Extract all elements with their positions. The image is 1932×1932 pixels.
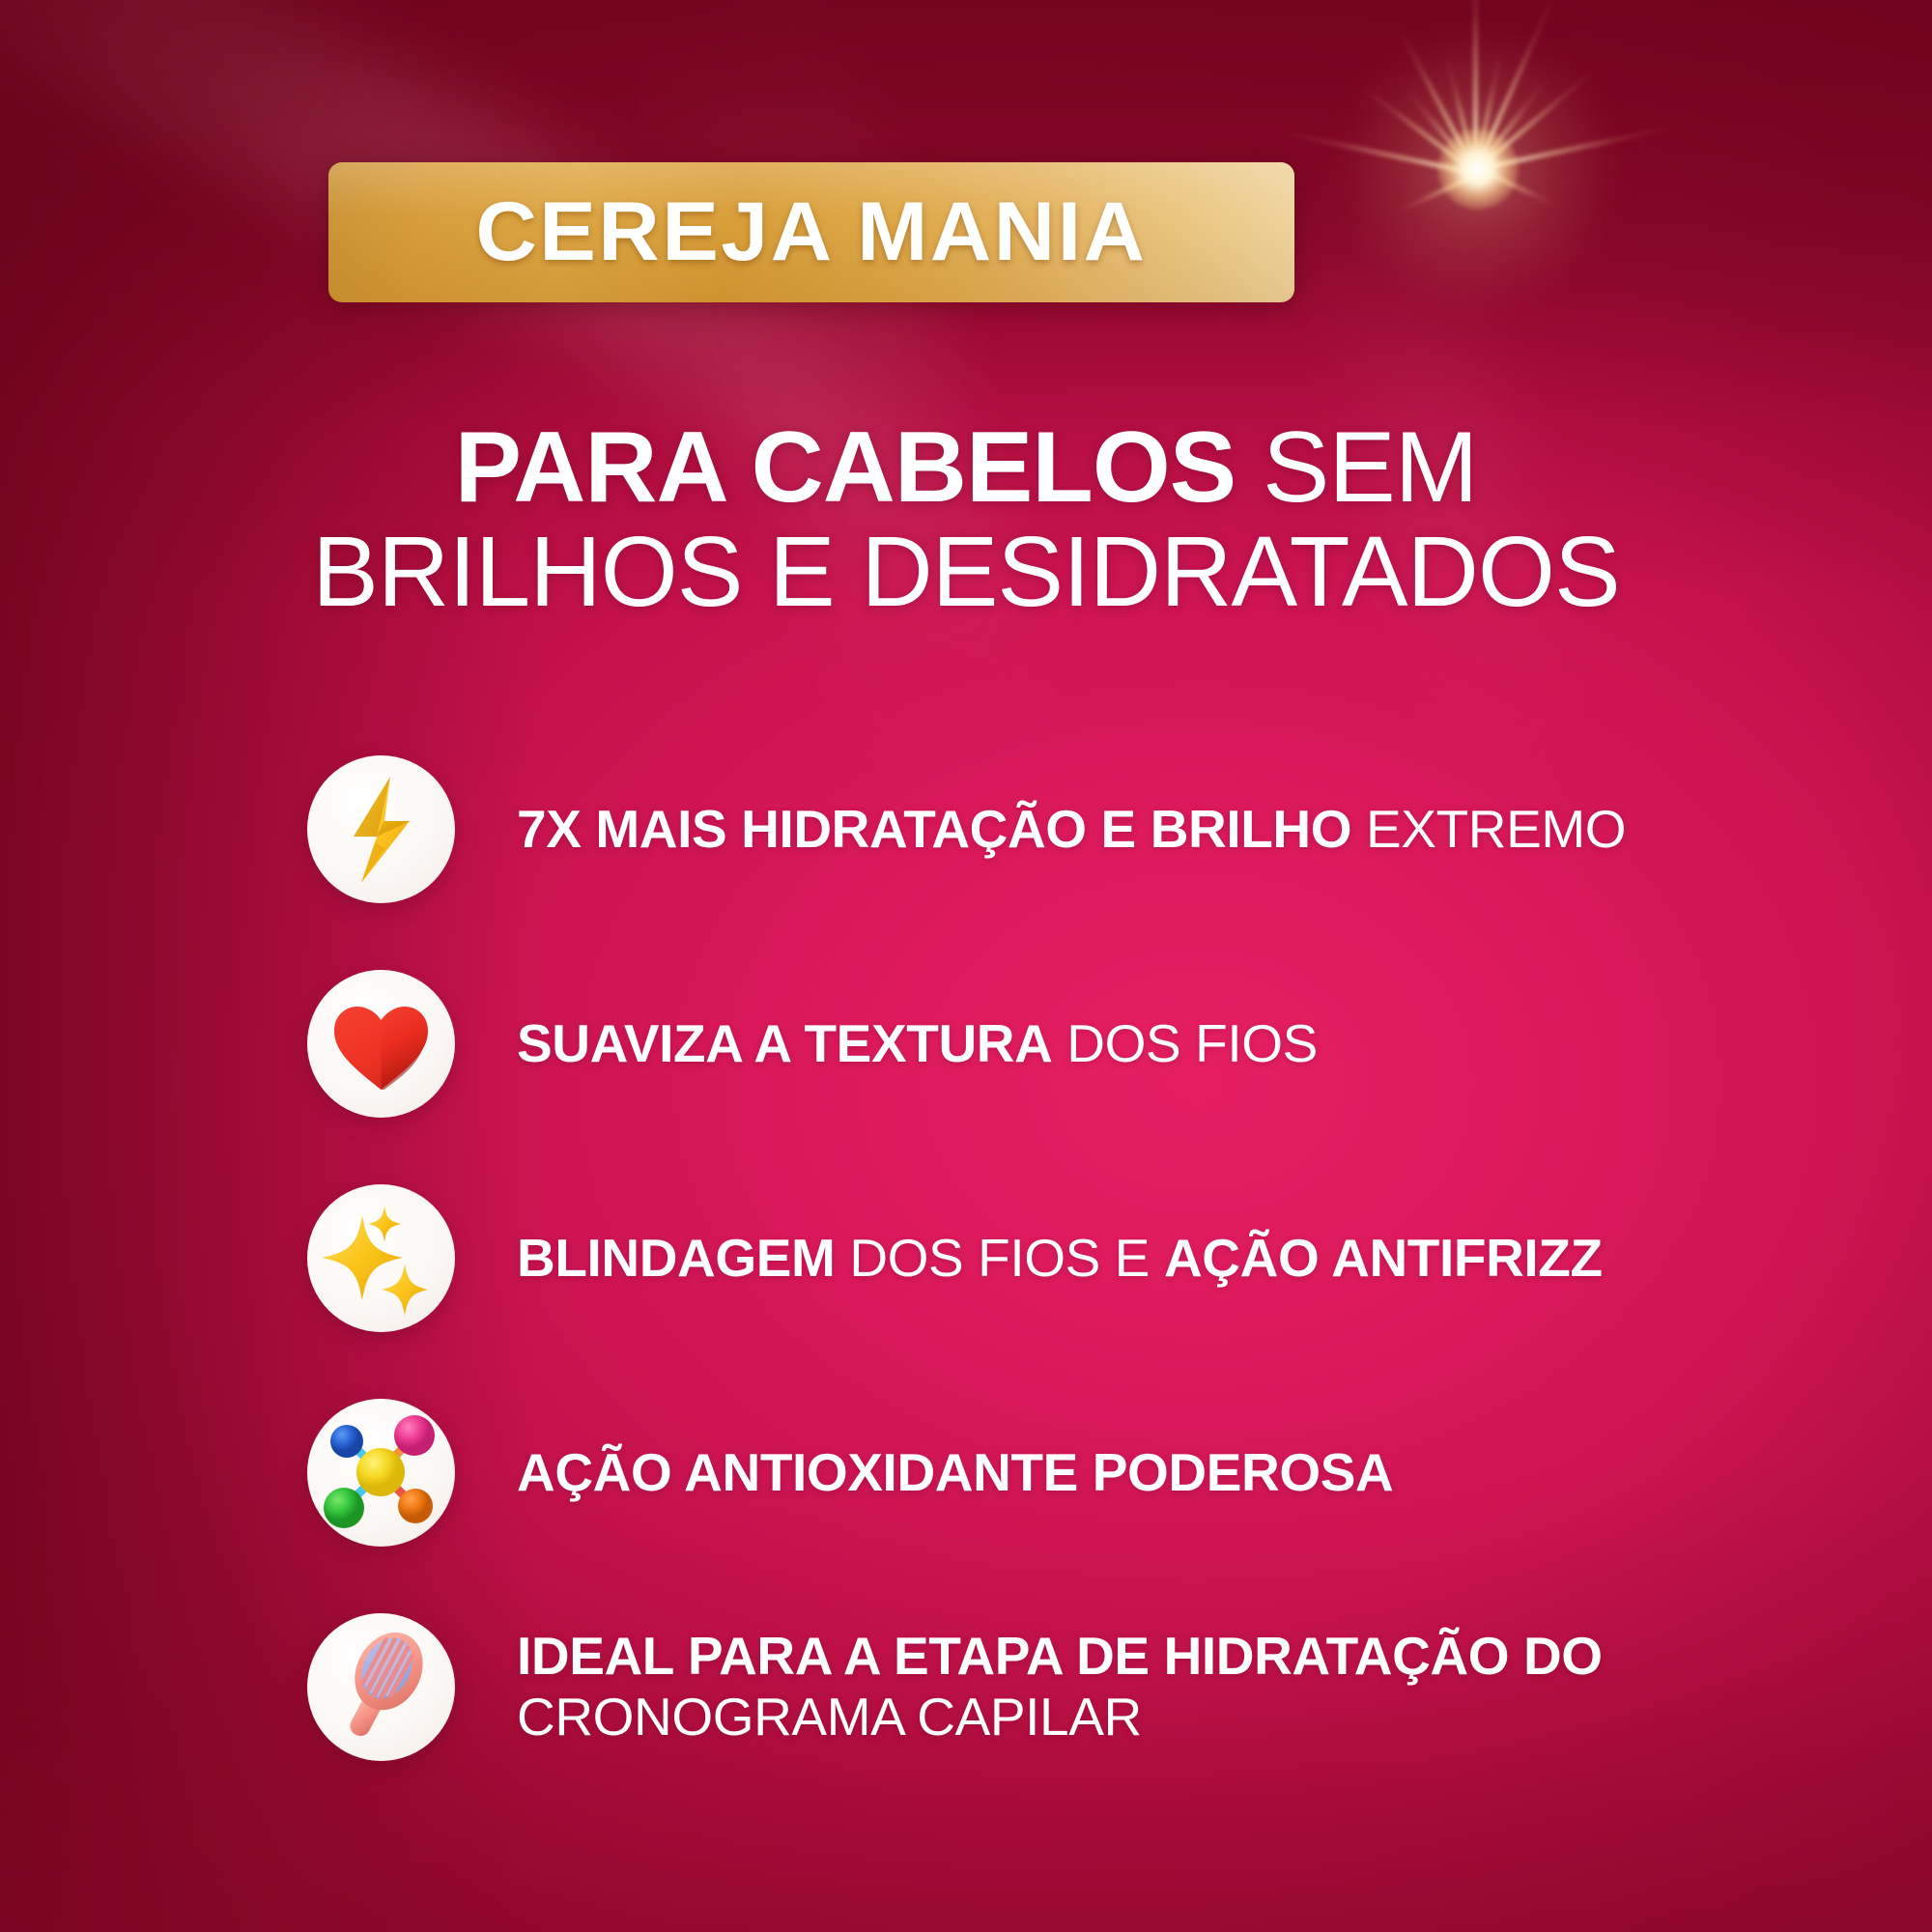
headline-light: SEM	[1236, 412, 1477, 524]
benefit-list: 7X MAIS HIDRATAÇÃO E BRILHO EXTREMO SUAV…	[307, 749, 1872, 1767]
benefit-light: DOS FIOS E	[835, 1228, 1164, 1288]
list-item: 7X MAIS HIDRATAÇÃO E BRILHO EXTREMO	[307, 749, 1872, 909]
benefit-strong: IDEAL PARA A ETAPA DE HIDRATAÇÃO DO	[517, 1626, 1603, 1686]
benefit-strong: 7X MAIS HIDRATAÇÃO E BRILHO	[517, 799, 1351, 859]
sparkles-icon	[307, 1184, 455, 1332]
list-item: BLINDAGEM DOS FIOS E AÇÃO ANTIFRIZZ	[307, 1178, 1872, 1338]
benefit-label: IDEAL PARA A ETAPA DE HIDRATAÇÃO DOCRONO…	[517, 1626, 1603, 1747]
benefit-strong: AÇÃO ANTIOXIDANTE PODEROSA	[517, 1442, 1393, 1502]
list-item: IDEAL PARA A ETAPA DE HIDRATAÇÃO DOCRONO…	[307, 1606, 1872, 1767]
hairbrush-icon	[307, 1613, 455, 1761]
benefit-label: BLINDAGEM DOS FIOS E AÇÃO ANTIFRIZZ	[517, 1228, 1603, 1289]
benefit-strong-tail: AÇÃO ANTIFRIZZ	[1164, 1228, 1603, 1288]
benefit-strong: BLINDAGEM	[517, 1228, 835, 1288]
benefit-line-2: CRONOGRAMA CAPILAR	[517, 1687, 1603, 1747]
benefit-light: DOS FIOS	[1052, 1013, 1318, 1073]
molecule-icon	[307, 1399, 455, 1547]
brand-banner: CEREJA MANIA	[328, 162, 1294, 302]
benefit-strong: SUAVIZA A TEXTURA	[517, 1013, 1052, 1073]
promo-poster: CEREJA MANIA PARA CABELOS SEM BRILHOS E …	[0, 0, 1932, 1932]
lightning-bolt-icon	[307, 755, 455, 903]
list-item: SUAVIZA A TEXTURA DOS FIOS	[307, 963, 1872, 1123]
page-title: PARA CABELOS SEM BRILHOS E DESIDRATADOS	[0, 415, 1932, 623]
headline-line-2: BRILHOS E DESIDRATADOS	[116, 520, 1816, 623]
benefit-light: EXTREMO	[1351, 799, 1626, 859]
headline-strong: PARA CABELOS	[455, 412, 1236, 524]
benefit-label: 7X MAIS HIDRATAÇÃO E BRILHO EXTREMO	[517, 799, 1626, 860]
headline-line-1: PARA CABELOS SEM	[116, 415, 1816, 520]
heart-icon	[307, 970, 455, 1118]
brand-banner-title: CEREJA MANIA	[319, 162, 1304, 302]
benefit-label: AÇÃO ANTIOXIDANTE PODEROSA	[517, 1442, 1393, 1503]
benefit-label: SUAVIZA A TEXTURA DOS FIOS	[517, 1013, 1318, 1074]
list-item: AÇÃO ANTIOXIDANTE PODEROSA	[307, 1392, 1872, 1552]
